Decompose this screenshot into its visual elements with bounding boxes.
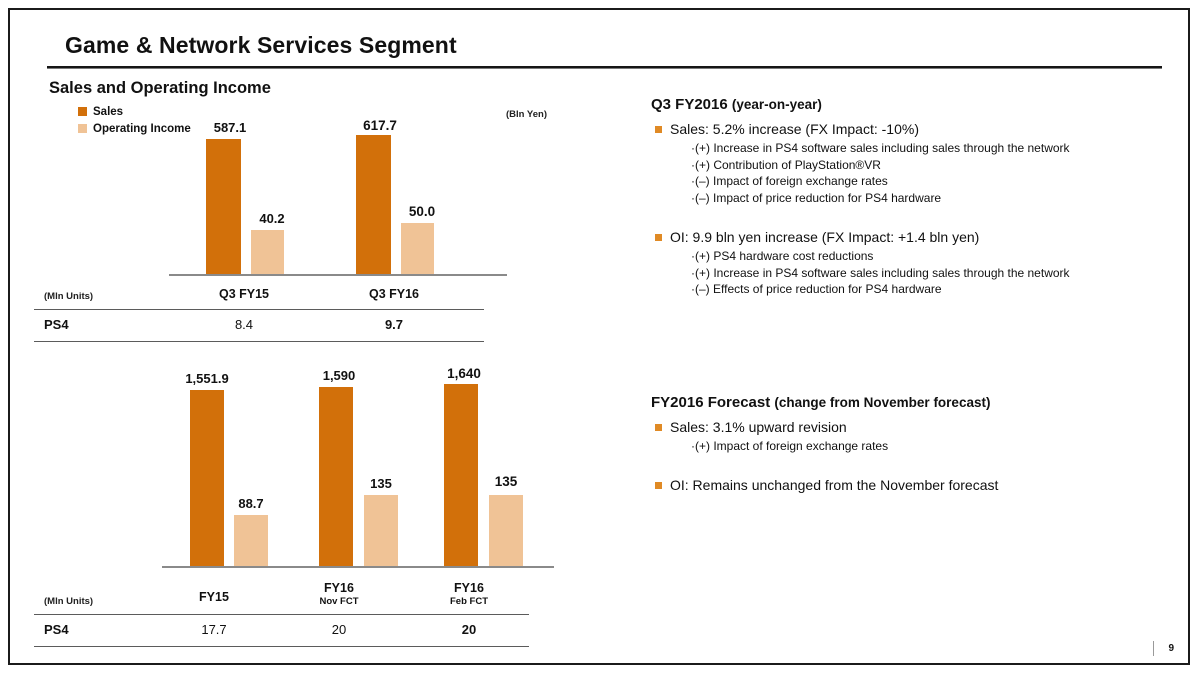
page-number: 9 xyxy=(1168,643,1174,654)
heading-rest-fy2016-forecast: (change from November forecast) xyxy=(774,395,990,410)
square-bullet-icon xyxy=(655,234,662,241)
sub-line: ·(+) Impact of foreign exchange rates xyxy=(691,438,1181,455)
chart2-table-header-2-sub: Feb FCT xyxy=(414,596,524,607)
square-bullet-icon xyxy=(655,126,662,133)
sub-line: ·(+) PS4 hardware cost reductions xyxy=(691,248,1181,265)
chart1-bar-oi-q3fy15 xyxy=(251,230,284,274)
bullet-sales-q3: Sales: 5.2% increase (FX Impact: -10%) xyxy=(651,120,1181,138)
chart2-table-value-0: 17.7 xyxy=(159,622,269,637)
sub-line: ·(–) Impact of price reduction for PS4 h… xyxy=(691,190,1181,207)
chart1-table-unit-label: (Mln Units) xyxy=(44,291,93,302)
square-bullet-icon xyxy=(655,424,662,431)
bullet-text-oi-forecast: OI: Remains unchanged from the November … xyxy=(670,476,998,494)
spacer xyxy=(651,206,1181,228)
spacer xyxy=(651,454,1181,476)
chart1-label-sales-q3fy16: 617.7 xyxy=(340,118,420,133)
bullet-oi-forecast: OI: Remains unchanged from the November … xyxy=(651,476,1181,494)
sub-line: ·(–) Impact of foreign exchange rates xyxy=(691,173,1181,190)
bullet-text-sales-q3: Sales: 5.2% increase (FX Impact: -10%) xyxy=(670,120,919,138)
chart1-table: (Mln Units) Q3 FY15 Q3 FY16 PS4 8.4 9.7 xyxy=(34,281,504,351)
chart1-table-rule-bottom xyxy=(34,341,484,342)
chart-q3-sales-oi: 587.1 40.2 617.7 50.0 xyxy=(34,126,534,276)
sub-line: ·(+) Increase in PS4 software sales incl… xyxy=(691,140,1181,157)
left-charts-column: Sales and Operating Income Sales Operati… xyxy=(34,76,634,656)
chart2-table-unit-label: (Mln Units) xyxy=(44,596,93,607)
slide: Game & Network Services Segment Sales an… xyxy=(8,8,1190,665)
chart1-table-rule-top xyxy=(34,309,484,310)
commentary-block-q3fy2016: Q3 FY2016 (year-on-year) Sales: 5.2% inc… xyxy=(651,96,1181,298)
subs-sales-forecast: ·(+) Impact of foreign exchange rates xyxy=(691,438,1181,455)
chart2-label-oi-fy16feb: 135 xyxy=(466,474,546,489)
chart2-table-row-label: PS4 xyxy=(44,622,69,637)
chart1-label-oi-q3fy15: 40.2 xyxy=(232,211,312,226)
chart1-table-row-label: PS4 xyxy=(44,317,69,332)
commentary-block-fy2016-forecast-heading: FY2016 Forecast (change from November fo… xyxy=(651,394,1181,411)
right-commentary-column: Q3 FY2016 (year-on-year) Sales: 5.2% inc… xyxy=(651,96,1181,495)
chart2-label-sales-fy15: 1,551.9 xyxy=(167,371,247,386)
page-number-divider xyxy=(1153,641,1154,656)
bullet-oi-q3: OI: 9.9 bln yen increase (FX Impact: +1.… xyxy=(651,228,1181,246)
chart2-table: (Mln Units) FY15 FY16 Nov FCT FY16 Feb F… xyxy=(34,576,544,656)
commentary-block-fy2016-forecast: FY2016 Forecast (change from November fo… xyxy=(651,394,1181,495)
chart1-baseline xyxy=(169,274,507,276)
chart2-label-oi-fy15: 88.7 xyxy=(211,496,291,511)
square-bullet-icon xyxy=(655,482,662,489)
chart1-table-header-1: Q3 FY16 xyxy=(334,287,454,301)
chart1-table-value-0: 8.4 xyxy=(184,317,304,332)
chart2-table-value-1: 20 xyxy=(284,622,394,637)
heading-rest-q3fy2016: (year-on-year) xyxy=(732,97,822,112)
subs-sales-q3: ·(+) Increase in PS4 software sales incl… xyxy=(691,140,1181,206)
heading-bold-fy2016-forecast: FY2016 Forecast xyxy=(651,394,770,411)
chart2-label-sales-fy16feb: 1,640 xyxy=(424,366,504,381)
chart1-bar-oi-q3fy16 xyxy=(401,223,434,274)
legend-item-sales: Sales xyxy=(78,104,191,119)
sub-line: ·(+) Contribution of PlayStation®VR xyxy=(691,157,1181,174)
chart2-table-header-1-sub: Nov FCT xyxy=(284,596,394,607)
chart2-table-value-2: 20 xyxy=(414,622,524,637)
title-divider xyxy=(47,66,1162,69)
sub-line: ·(+) Increase in PS4 software sales incl… xyxy=(691,265,1181,282)
legend-swatch-sales xyxy=(78,107,87,116)
chart2-baseline xyxy=(162,566,554,568)
commentary-block-q3fy2016-heading: Q3 FY2016 (year-on-year) xyxy=(651,96,1181,113)
chart-fy-sales-oi: 1,551.9 88.7 1,590 135 1,640 135 xyxy=(34,376,554,568)
chart2-table-rule-top xyxy=(34,614,529,615)
chart2-table-header-0: FY15 xyxy=(159,590,269,604)
chart2-bar-sales-fy15 xyxy=(190,390,224,566)
chart1-label-sales-q3fy15: 587.1 xyxy=(190,120,270,135)
chart2-table-header-1: FY16 Nov FCT xyxy=(284,581,394,607)
chart2-label-oi-fy16nov: 135 xyxy=(341,476,421,491)
chart2-table-header-2-main: FY16 xyxy=(454,581,484,595)
bullet-text-oi-q3: OI: 9.9 bln yen increase (FX Impact: +1.… xyxy=(670,228,979,246)
chart1-table-header-0: Q3 FY15 xyxy=(184,287,304,301)
chart2-table-header-0-main: FY15 xyxy=(199,590,229,604)
chart2-table-header-2: FY16 Feb FCT xyxy=(414,581,524,607)
bullet-text-sales-forecast: Sales: 3.1% upward revision xyxy=(670,418,847,436)
bullet-sales-forecast: Sales: 3.1% upward revision xyxy=(651,418,1181,436)
chart2-bar-oi-fy16feb xyxy=(489,495,523,566)
chart2-bar-oi-fy16nov xyxy=(364,495,398,566)
chart1-unit-label: (Bln Yen) xyxy=(506,109,547,120)
chart1-label-oi-q3fy16: 50.0 xyxy=(382,204,462,219)
chart2-bar-oi-fy15 xyxy=(234,515,268,566)
chart1-table-value-1: 9.7 xyxy=(334,317,454,332)
chart1-bar-sales-q3fy15 xyxy=(206,139,241,274)
heading-bold-q3fy2016: Q3 FY2016 xyxy=(651,96,728,113)
chart2-table-header-1-main: FY16 xyxy=(324,581,354,595)
section-title: Sales and Operating Income xyxy=(49,79,271,98)
sub-line: ·(–) Effects of price reduction for PS4 … xyxy=(691,281,1181,298)
chart2-table-rule-bottom xyxy=(34,646,529,647)
subs-oi-q3: ·(+) PS4 hardware cost reductions ·(+) I… xyxy=(691,248,1181,298)
page-title: Game & Network Services Segment xyxy=(65,32,457,59)
chart2-label-sales-fy16nov: 1,590 xyxy=(299,368,379,383)
legend-label-sales: Sales xyxy=(93,106,123,118)
